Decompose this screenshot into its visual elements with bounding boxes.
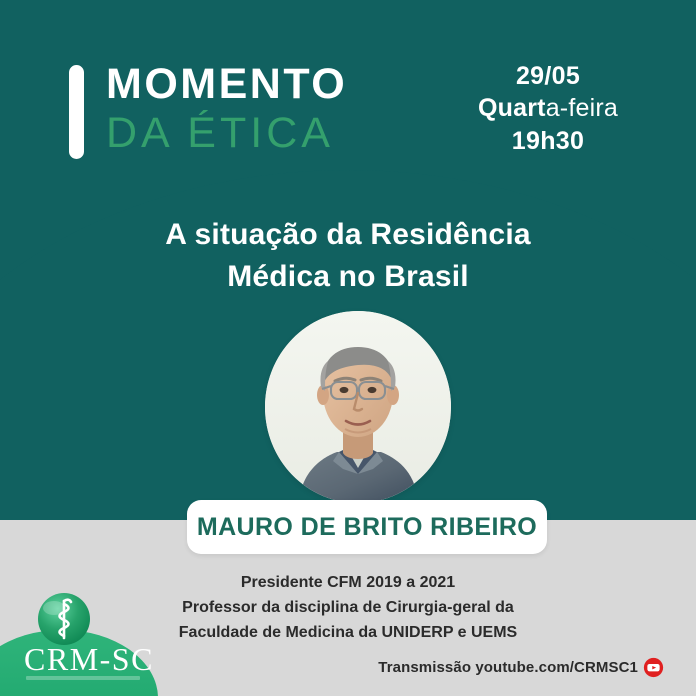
event-weekday: Quarta-feira xyxy=(438,92,658,125)
broadcast-text: Transmissão youtube.com/CRMSC1 xyxy=(378,659,638,676)
talk-title-line1: A situação da Residência xyxy=(78,214,618,256)
talk-title: A situação da Residência Médica no Brasi… xyxy=(78,214,618,298)
portrait-photo-illustration xyxy=(265,311,451,503)
event-time: 19h30 xyxy=(438,125,658,158)
brand-lockup: MOMENTO DA ÉTICA xyxy=(69,60,347,159)
brand-wordmark: MOMENTO DA ÉTICA xyxy=(106,60,347,158)
event-weekday-rest: a-feira xyxy=(546,94,618,122)
brand-title-line2: DA ÉTICA xyxy=(106,108,347,158)
speaker-portrait xyxy=(265,311,451,503)
event-date: 29/05 xyxy=(438,60,658,92)
event-weekday-bold: Quart xyxy=(478,94,546,122)
broadcast-info[interactable]: Transmissão youtube.com/CRMSC1 xyxy=(378,657,664,678)
crm-sc-logo: CRM-SC xyxy=(0,586,176,696)
event-datetime: 29/05 Quarta-feira 19h30 xyxy=(438,60,658,158)
talk-title-line2: Médica no Brasil xyxy=(78,256,618,298)
speaker-name: MAURO DE BRITO RIBEIRO xyxy=(197,513,537,542)
vertical-bar-icon xyxy=(69,65,84,159)
event-poster: MOMENTO DA ÉTICA 29/05 Quarta-feira 19h3… xyxy=(0,0,696,696)
crm-sc-logo-graphic: CRM-SC xyxy=(0,586,176,696)
crm-sc-wordmark: CRM-SC xyxy=(24,641,154,677)
speaker-name-banner: MAURO DE BRITO RIBEIRO xyxy=(187,500,547,554)
youtube-icon[interactable] xyxy=(643,657,664,678)
brand-title-line1: MOMENTO xyxy=(106,60,347,108)
